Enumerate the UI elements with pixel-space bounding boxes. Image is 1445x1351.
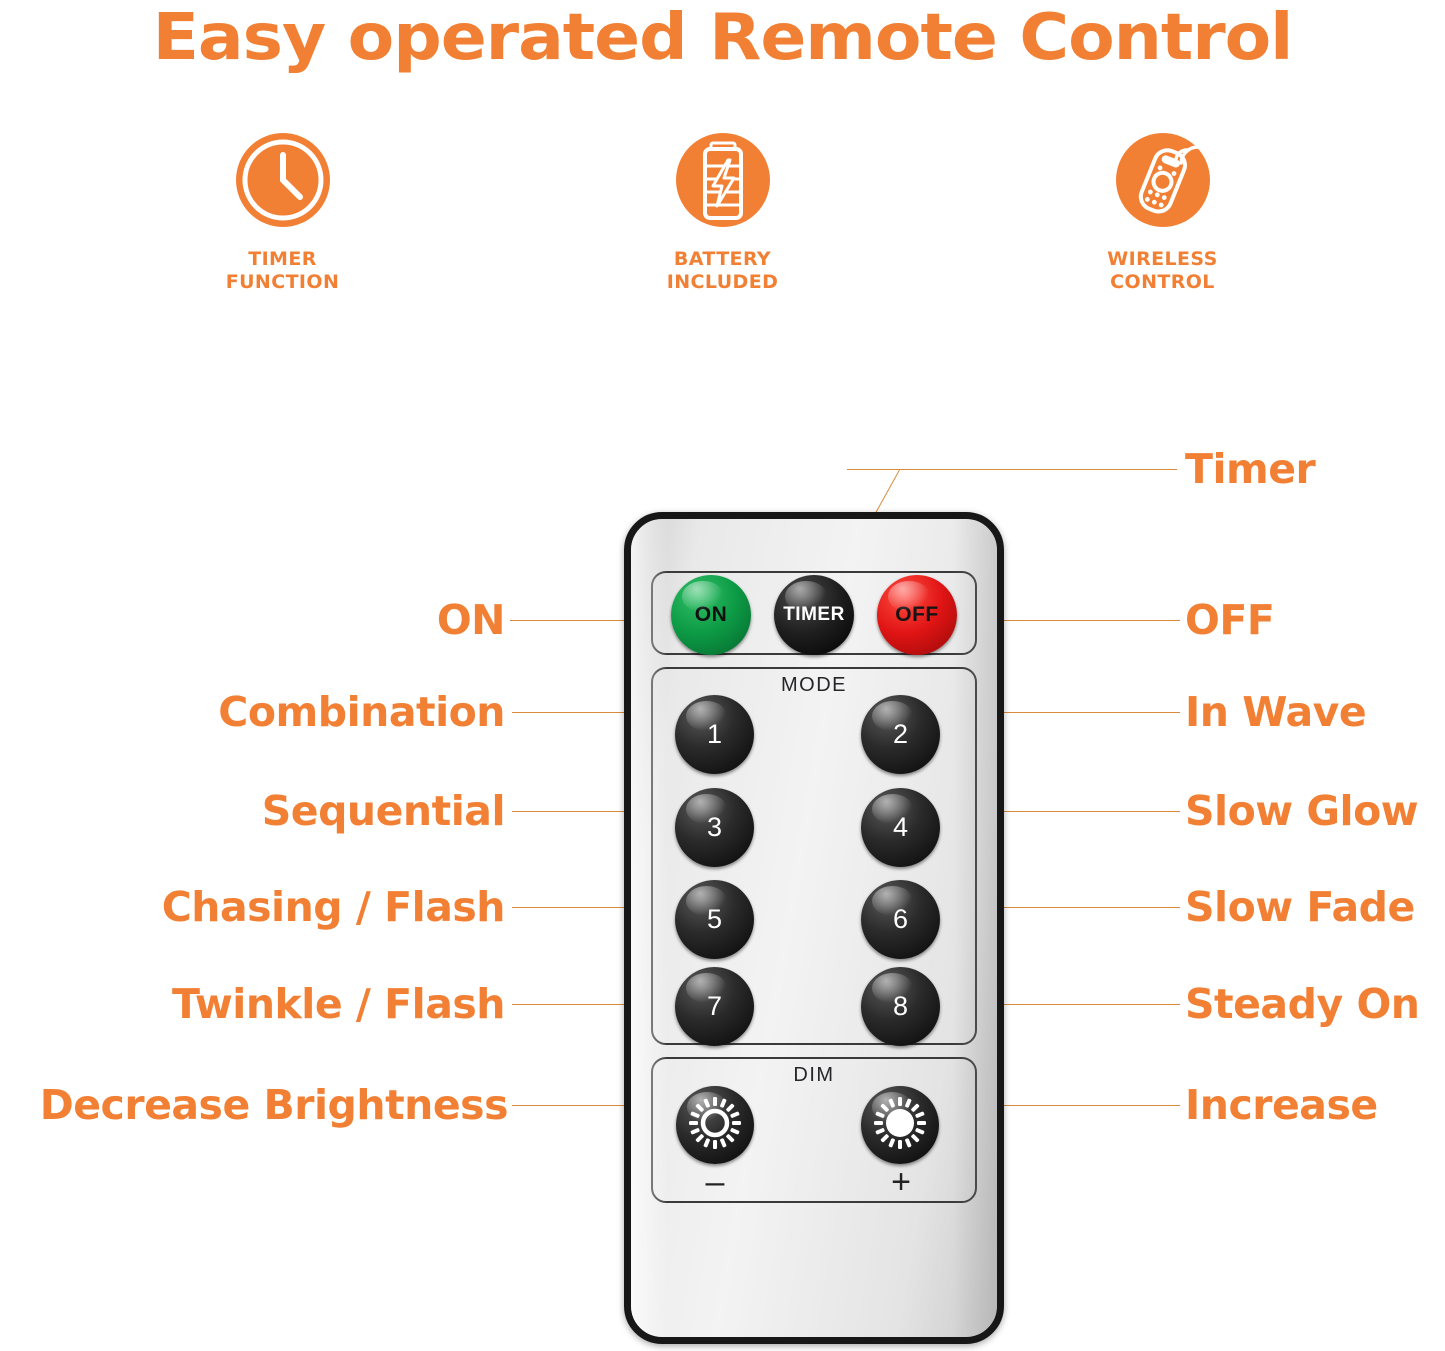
power-panel: ON TIMER OFF [651, 571, 977, 655]
dim-down-button[interactable] [676, 1086, 754, 1164]
battery-icon [673, 130, 773, 235]
callout-slowfade: Slow Fade [1185, 885, 1415, 929]
callout-on: ON [180, 598, 505, 642]
remote-control: ON TIMER OFF MODE 1 2 3 4 5 6 7 8 DIM [624, 512, 1004, 1344]
callout-sequential: Sequential [120, 789, 505, 833]
callout-timer: Timer [1185, 447, 1315, 491]
mode-button-3[interactable]: 3 [675, 788, 754, 867]
callout-twinkle: Twinkle / Flash [80, 982, 505, 1026]
feature-timer-label: TIMER FUNCTION [226, 248, 340, 294]
mode-button-6[interactable]: 6 [861, 880, 940, 959]
dim-minus-sign: – [695, 1172, 735, 1192]
dim-up-button[interactable] [861, 1086, 939, 1164]
on-button[interactable]: ON [671, 575, 751, 655]
page-title: Easy operated Remote Control [0, 2, 1445, 74]
feature-wireless: WIRELESS CONTROL [1068, 130, 1258, 294]
sun-outline-icon [687, 1095, 743, 1156]
sun-filled-icon [872, 1095, 928, 1156]
mode-button-7[interactable]: 7 [675, 967, 754, 1046]
callout-decrease: Decrease Brightness [5, 1083, 508, 1127]
mode-button-5[interactable]: 5 [675, 880, 754, 959]
callout-chasing: Chasing / Flash [80, 885, 505, 929]
timer-button[interactable]: TIMER [774, 575, 854, 655]
dim-caption: DIM [653, 1064, 975, 1087]
clock-icon [233, 130, 333, 235]
feature-badges: TIMER FUNCTION BATTERY INCLUDED [0, 130, 1445, 294]
mode-caption: MODE [653, 674, 975, 697]
remote-signal-icon [1113, 130, 1213, 235]
mode-button-2[interactable]: 2 [861, 695, 940, 774]
dim-plus-sign: + [881, 1172, 921, 1192]
feature-timer: TIMER FUNCTION [188, 130, 378, 294]
off-button[interactable]: OFF [877, 575, 957, 655]
mode-button-8[interactable]: 8 [861, 967, 940, 1046]
callout-off: OFF [1185, 598, 1274, 642]
feature-battery: BATTERY INCLUDED [628, 130, 818, 294]
dim-panel: DIM [651, 1057, 977, 1203]
callout-slowglow: Slow Glow [1185, 789, 1418, 833]
callout-combination: Combination [120, 690, 505, 734]
callout-inwave: In Wave [1185, 690, 1366, 734]
leader-timer-h [847, 469, 1177, 470]
callout-increase: Increase [1185, 1083, 1378, 1127]
feature-battery-label: BATTERY INCLUDED [667, 248, 779, 294]
callout-steadyon: Steady On [1185, 982, 1420, 1026]
mode-panel: MODE 1 2 3 4 5 6 7 8 [651, 667, 977, 1045]
mode-button-4[interactable]: 4 [861, 788, 940, 867]
feature-wireless-label: WIRELESS CONTROL [1107, 248, 1217, 294]
mode-button-1[interactable]: 1 [675, 695, 754, 774]
